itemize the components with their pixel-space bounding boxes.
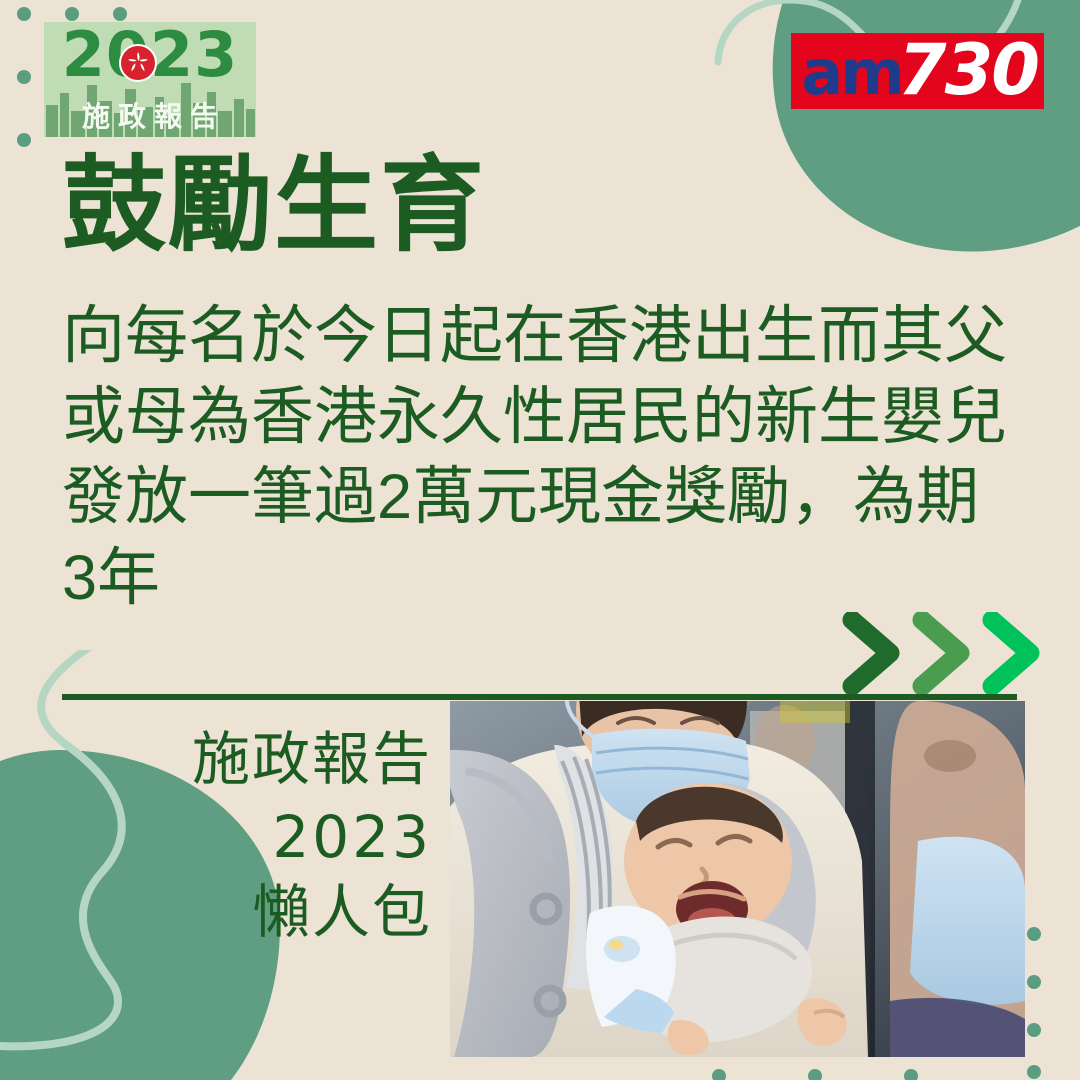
photo-illustration [450, 701, 1025, 1057]
body-line: 或母為香港永久性居民的新生嬰兒 [62, 377, 992, 458]
page-title: 鼓勵生育 [62, 152, 486, 261]
series-caption: 施政報告 2023 懶人包 [60, 722, 432, 952]
caption-line: 施政報告 [60, 722, 432, 799]
am730-logo[interactable]: am730 [791, 33, 1044, 109]
news-photo [450, 701, 1025, 1057]
body-line: 3年 [62, 538, 992, 619]
chevron-right-bright-icon [982, 612, 1044, 694]
chevron-right-medium-icon [912, 612, 974, 694]
logo-subtitle: 施政報告 [44, 103, 256, 131]
body-text: 向每名於今日起在香港出生而其父 或母為香港永久性居民的新生嬰兒 發放一筆過2萬元… [62, 296, 992, 619]
chevron-arrow-group [842, 612, 1044, 694]
horizontal-divider [62, 694, 1017, 700]
poster-canvas: 2023 施政報告 am730 鼓勵生育 向每名於今日起在香港出生而其父 或母為… [0, 0, 1080, 1080]
policy-address-logo: 2023 施政報告 [44, 22, 256, 137]
body-line: 發放一筆過2萬元現金獎勵，為期 [62, 457, 992, 538]
am730-number: 730 [898, 35, 1038, 105]
am730-prefix: am [801, 42, 901, 104]
body-line: 向每名於今日起在香港出生而其父 [62, 296, 992, 377]
hk-bauhinia-emblem-icon [119, 44, 157, 82]
caption-line: 懶人包 [60, 875, 432, 952]
chevron-right-dark-icon [842, 612, 904, 694]
caption-line: 2023 [60, 799, 432, 876]
